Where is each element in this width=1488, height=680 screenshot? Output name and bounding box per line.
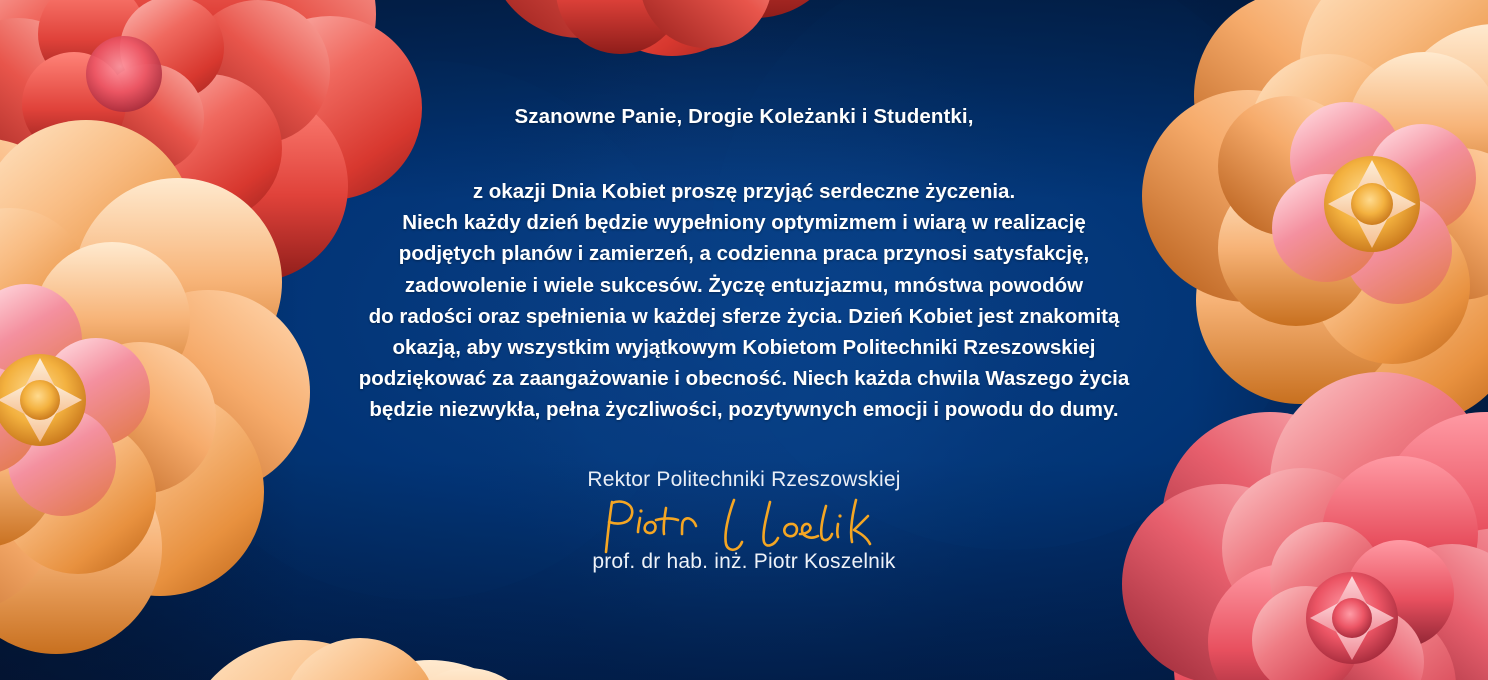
message-line: z okazji Dnia Kobiet proszę przyjąć serd…: [0, 176, 1488, 207]
flower-top-center-red: [488, 0, 844, 56]
greeting-card: Szanowne Panie, Drogie Koleżanki i Stude…: [0, 0, 1488, 680]
message-line: do radości oraz spełnienia w każdej sfer…: [0, 301, 1488, 332]
flower-bottom-center-peach: [62, 638, 552, 680]
signature-block: Rektor Politechniki Rzeszowskiej: [0, 468, 1488, 574]
message-line: podziękować za zaangażowanie i obecność.…: [0, 363, 1488, 394]
message-line: zadowolenie i wiele sukcesów. Życzę entu…: [0, 270, 1488, 301]
signature-icon: [594, 494, 894, 556]
message-line: podjętych planów i zamierzeń, a codzienn…: [0, 238, 1488, 269]
signature-role: Rektor Politechniki Rzeszowskiej: [0, 468, 1488, 492]
message-line: Niech każdy dzień będzie wypełniony opty…: [0, 207, 1488, 238]
message-line: będzie niezwykła, pełna życzliwości, poz…: [0, 394, 1488, 425]
message-line: okazją, aby wszystkim wyjątkowym Kobieto…: [0, 332, 1488, 363]
message-body: z okazji Dnia Kobiet proszę przyjąć serd…: [0, 176, 1488, 426]
signature-name: prof. dr hab. inż. Piotr Koszelnik: [0, 550, 1488, 574]
greeting-line: Szanowne Panie, Drogie Koleżanki i Stude…: [0, 105, 1488, 129]
